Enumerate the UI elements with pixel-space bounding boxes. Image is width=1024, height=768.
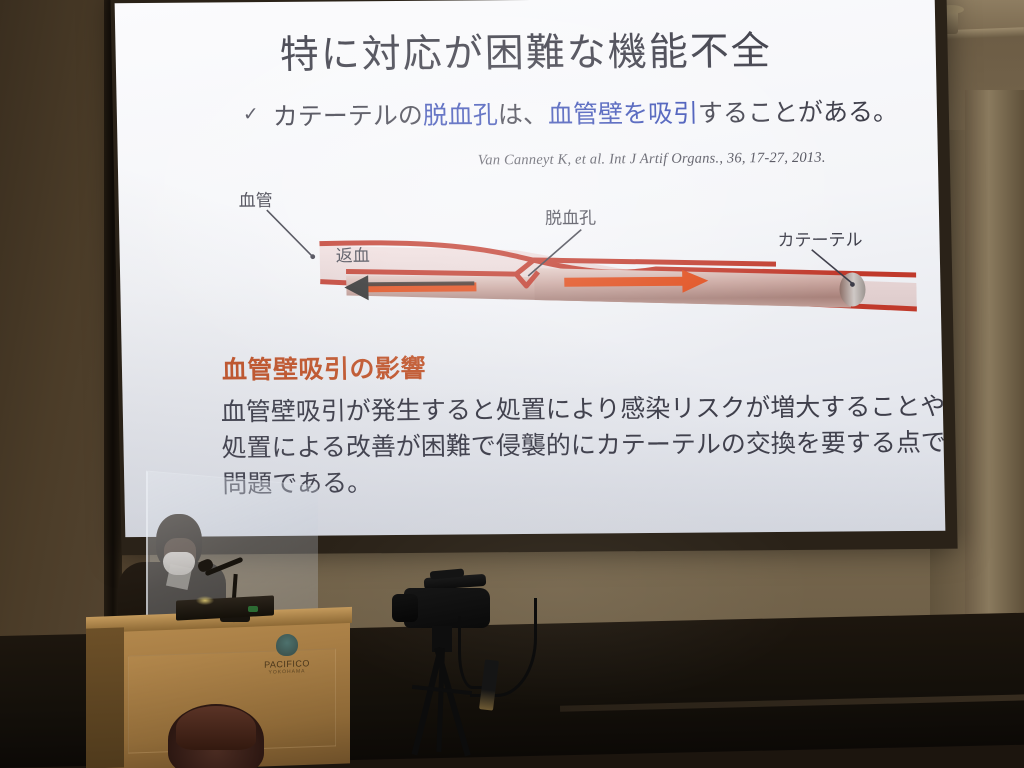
bullet-segment-5: することがある。 xyxy=(698,97,899,128)
projection-screen-surface: 特に対応が困難な機能不全 ✓ カテーテルの脱血孔は、血管壁を吸引することがある。… xyxy=(115,0,946,537)
conference-photo-scene: 特に対応が困難な機能不全 ✓ カテーテルの脱血孔は、血管壁を吸引することがある。… xyxy=(0,0,1024,768)
slide-body-paragraph: 血管壁吸引が発生すると処置により感染リスクが増大することや、 処置による改善が困… xyxy=(220,389,922,502)
vessel-leader-dot xyxy=(310,254,315,259)
slide-bullet: ✓ カテーテルの脱血孔は、血管壁を吸引することがある。 xyxy=(243,95,944,134)
check-icon: ✓ xyxy=(243,100,260,131)
slide-title: 特に対応が困難な機能不全 xyxy=(115,19,936,81)
diagram-label-catheter: カテーテル xyxy=(777,225,863,251)
bullet-segment-2-highlight: 脱血孔 xyxy=(423,100,499,130)
camera-lens xyxy=(392,594,418,622)
body-line-1: 血管壁吸引が発生すると処置により感染リスクが増大することや、 xyxy=(220,389,921,430)
vessel-leader-line xyxy=(267,210,312,256)
presentation-slide: 特に対応が困難な機能不全 ✓ カテーテルの脱血孔は、血管壁を吸引することがある。… xyxy=(115,0,946,537)
bullet-text: カテーテルの脱血孔は、血管壁を吸引することがある。 xyxy=(273,95,899,134)
podium-logo: PACIFICO YOKOHAMA xyxy=(252,633,322,685)
laptop-indicator-led xyxy=(248,606,258,612)
diagram-svg xyxy=(214,179,917,330)
bullet-segment-1: カテーテルの xyxy=(273,101,424,131)
laptop-screen-glow xyxy=(196,596,214,605)
body-line-3: 問題である。 xyxy=(222,461,923,502)
audience-member-hair xyxy=(176,706,256,750)
citation-reference: Van Canneyt K, et al. Int J Artif Organs… xyxy=(478,149,938,170)
podium-logo-subtext: YOKOHAMA xyxy=(252,668,322,676)
podium-emblem-icon xyxy=(276,634,298,657)
slide-sub-heading: 血管壁吸引の影響 xyxy=(222,349,427,387)
bullet-segment-4-highlight: 血管壁を吸引 xyxy=(548,99,699,129)
diagram-label-vessel: 血管 xyxy=(238,186,273,211)
diagram-label-drainage-hole: 脱血孔 xyxy=(545,203,597,228)
podium-left-side xyxy=(86,627,124,768)
diagram-label-return-flow: 返血 xyxy=(335,241,370,266)
body-line-2: 処置による改善が困難で侵襲的にカテーテルの交換を要する点で xyxy=(221,425,922,466)
bullet-segment-3: は、 xyxy=(498,100,549,129)
catheter-vessel-diagram: 血管 返血 脱血孔 カテーテル xyxy=(214,179,917,330)
wall-panel-seam-right xyxy=(965,90,1024,650)
